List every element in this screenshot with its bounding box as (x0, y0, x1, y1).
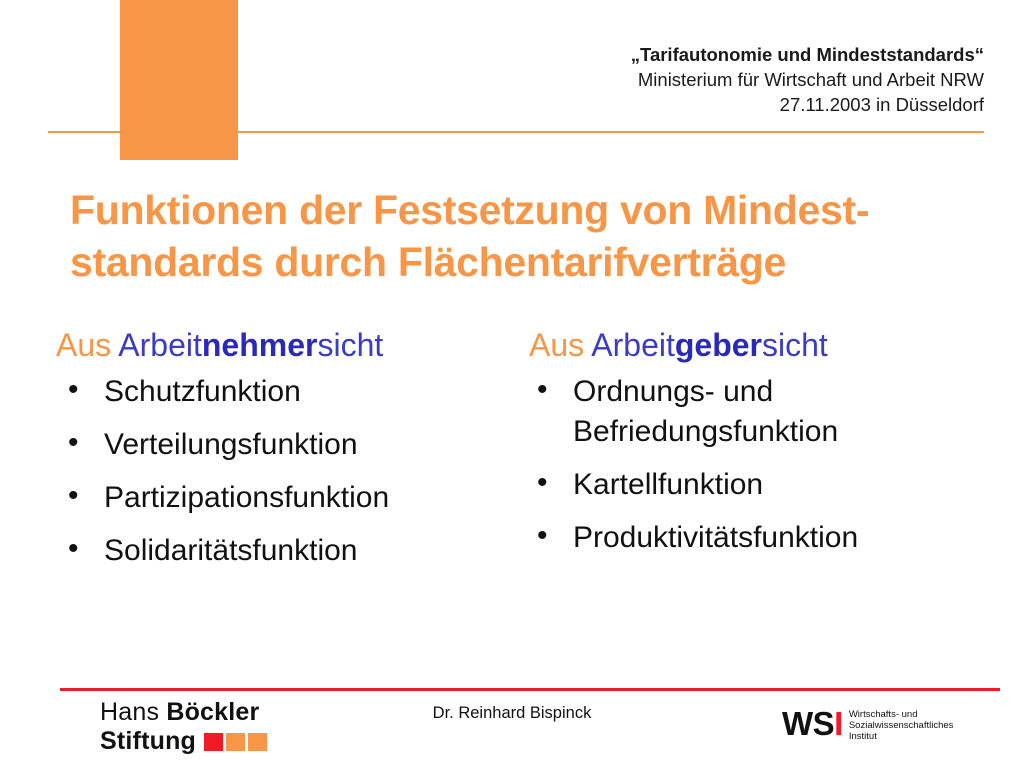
header-line-3: 27.11.2003 in Düsseldorf (364, 92, 984, 117)
list-item: Verteilungsfunktion (56, 425, 523, 465)
column-heading-employee: Aus Arbeitnehmersicht (56, 326, 523, 364)
header-line-1: „Tarifautonomie und Mindeststandards“ (364, 42, 984, 67)
wsi-wordmark-i: I (834, 705, 843, 742)
heading-word-c: sicht (762, 327, 828, 363)
wsi-wordmark-ws: WS (782, 705, 834, 742)
footer-divider (60, 688, 1000, 691)
heading-prefix: Aus (529, 327, 591, 363)
decorative-orange-block (120, 0, 238, 160)
heading-word-bold: nehmer (202, 327, 318, 363)
wsi-subtitle-line-1: Wirtschafts- und (849, 709, 954, 720)
bullet-list-employer: Ordnungs- und Befriedungsfunktion Kartel… (529, 372, 996, 558)
header-line-2: Ministerium für Wirtschaft und Arbeit NR… (364, 67, 984, 92)
heading-word-bold: geber (675, 327, 762, 363)
hbs-flag-icon (204, 733, 268, 751)
list-item: Ordnungs- und Befriedungsfunktion (529, 372, 996, 452)
column-employee-perspective: Aus Arbeitnehmersicht Schutzfunktion Ver… (56, 326, 523, 584)
list-item: Schutzfunktion (56, 372, 523, 412)
content-columns: Aus Arbeitnehmersicht Schutzfunktion Ver… (56, 326, 996, 584)
wsi-logo: WSI Wirtschafts- und Sozialwissenschaftl… (782, 706, 1002, 742)
list-item: Solidaritätsfunktion (56, 531, 523, 571)
wsi-wordmark: WSI (782, 706, 843, 742)
list-item: Partizipationsfunktion (56, 478, 523, 518)
column-heading-employer: Aus Arbeitgebersicht (529, 326, 996, 364)
list-item: Produktivitätsfunktion (529, 518, 996, 558)
heading-word-a: Arbeit (591, 327, 675, 363)
wsi-subtitle: Wirtschafts- und Sozialwissenschaftliche… (849, 709, 954, 742)
header-block: „Tarifautonomie und Mindeststandards“ Mi… (364, 42, 984, 117)
wsi-subtitle-line-2: Sozialwissenschaftliches (849, 720, 954, 731)
heading-word-c: sicht (317, 327, 383, 363)
list-item: Kartellfunktion (529, 465, 996, 505)
heading-word-a: Arbeit (118, 327, 202, 363)
heading-prefix: Aus (56, 327, 118, 363)
page-title: Funktionen der Festsetzung von Mindest-s… (70, 184, 990, 288)
wsi-subtitle-line-3: Institut (849, 731, 954, 742)
bullet-list-employee: Schutzfunktion Verteilungsfunktion Parti… (56, 372, 523, 571)
slide: „Tarifautonomie und Mindeststandards“ Mi… (0, 0, 1024, 768)
header-divider (48, 131, 984, 133)
hbs-logo-word-stiftung: Stiftung (100, 727, 196, 755)
column-employer-perspective: Aus Arbeitgebersicht Ordnungs- und Befri… (523, 326, 996, 584)
hbs-logo-line-2: Stiftung (100, 727, 370, 756)
